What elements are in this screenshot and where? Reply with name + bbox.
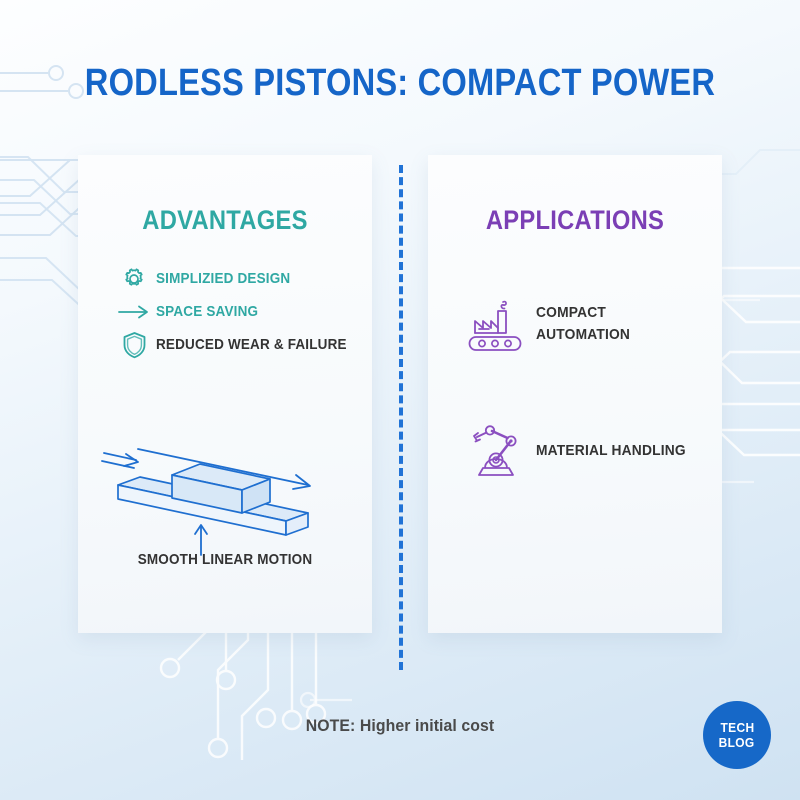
vertical-dashed-divider (399, 165, 403, 670)
application-label: COMPACT AUTOMATION (536, 302, 630, 347)
badge-line1: TECH (720, 720, 754, 735)
advantage-item-space-saving: SPACE SAVING (112, 296, 358, 327)
infographic-canvas: RODLESS PISTONS: COMPACT POWER ADVANTAGE… (0, 0, 800, 800)
advantages-list: SIMPLIZIED DESIGN SPACE SAVING (112, 263, 358, 362)
application-item-material-handling: MATERIAL HANDLING (466, 423, 699, 479)
application-label-line1: COMPACT (536, 302, 630, 325)
application-label-line2: AUTOMATION (536, 324, 630, 347)
factory-conveyor-icon (466, 297, 528, 351)
shield-icon (112, 331, 156, 359)
advantage-item-reduced-wear: REDUCED WEAR & FAILURE (112, 329, 358, 360)
robot-arm-icon (466, 423, 528, 479)
note-text: NOTE: Higher initial cost (28, 716, 772, 736)
illustration-caption: SMOOTH LINEAR MOTION (93, 551, 358, 568)
advantage-label: REDUCED WEAR & FAILURE (156, 336, 347, 353)
badge-line2: BLOG (719, 735, 755, 750)
page-title: RODLESS PISTONS: COMPACT POWER (56, 62, 744, 105)
advantages-card: ADVANTAGES SIMPLIZIED DESIGN (78, 155, 372, 633)
advantage-item-simplified-design: SIMPLIZIED DESIGN (112, 263, 358, 294)
gear-icon (112, 266, 156, 292)
applications-heading: APPLICATIONS (446, 205, 705, 236)
applications-card: APPLICATIONS (428, 155, 722, 633)
rodless-piston-diagram (78, 427, 372, 567)
application-item-compact-automation: COMPACT AUTOMATION (466, 297, 638, 351)
application-label: MATERIAL HANDLING (536, 440, 686, 463)
advantage-label: SIMPLIZIED DESIGN (156, 270, 290, 287)
application-label-line1: MATERIAL HANDLING (536, 440, 686, 463)
tech-blog-badge[interactable]: TECH BLOG (703, 701, 771, 769)
advantage-label: SPACE SAVING (156, 303, 258, 320)
arrow-right-icon (112, 304, 156, 320)
advantages-heading: ADVANTAGES (96, 205, 355, 236)
